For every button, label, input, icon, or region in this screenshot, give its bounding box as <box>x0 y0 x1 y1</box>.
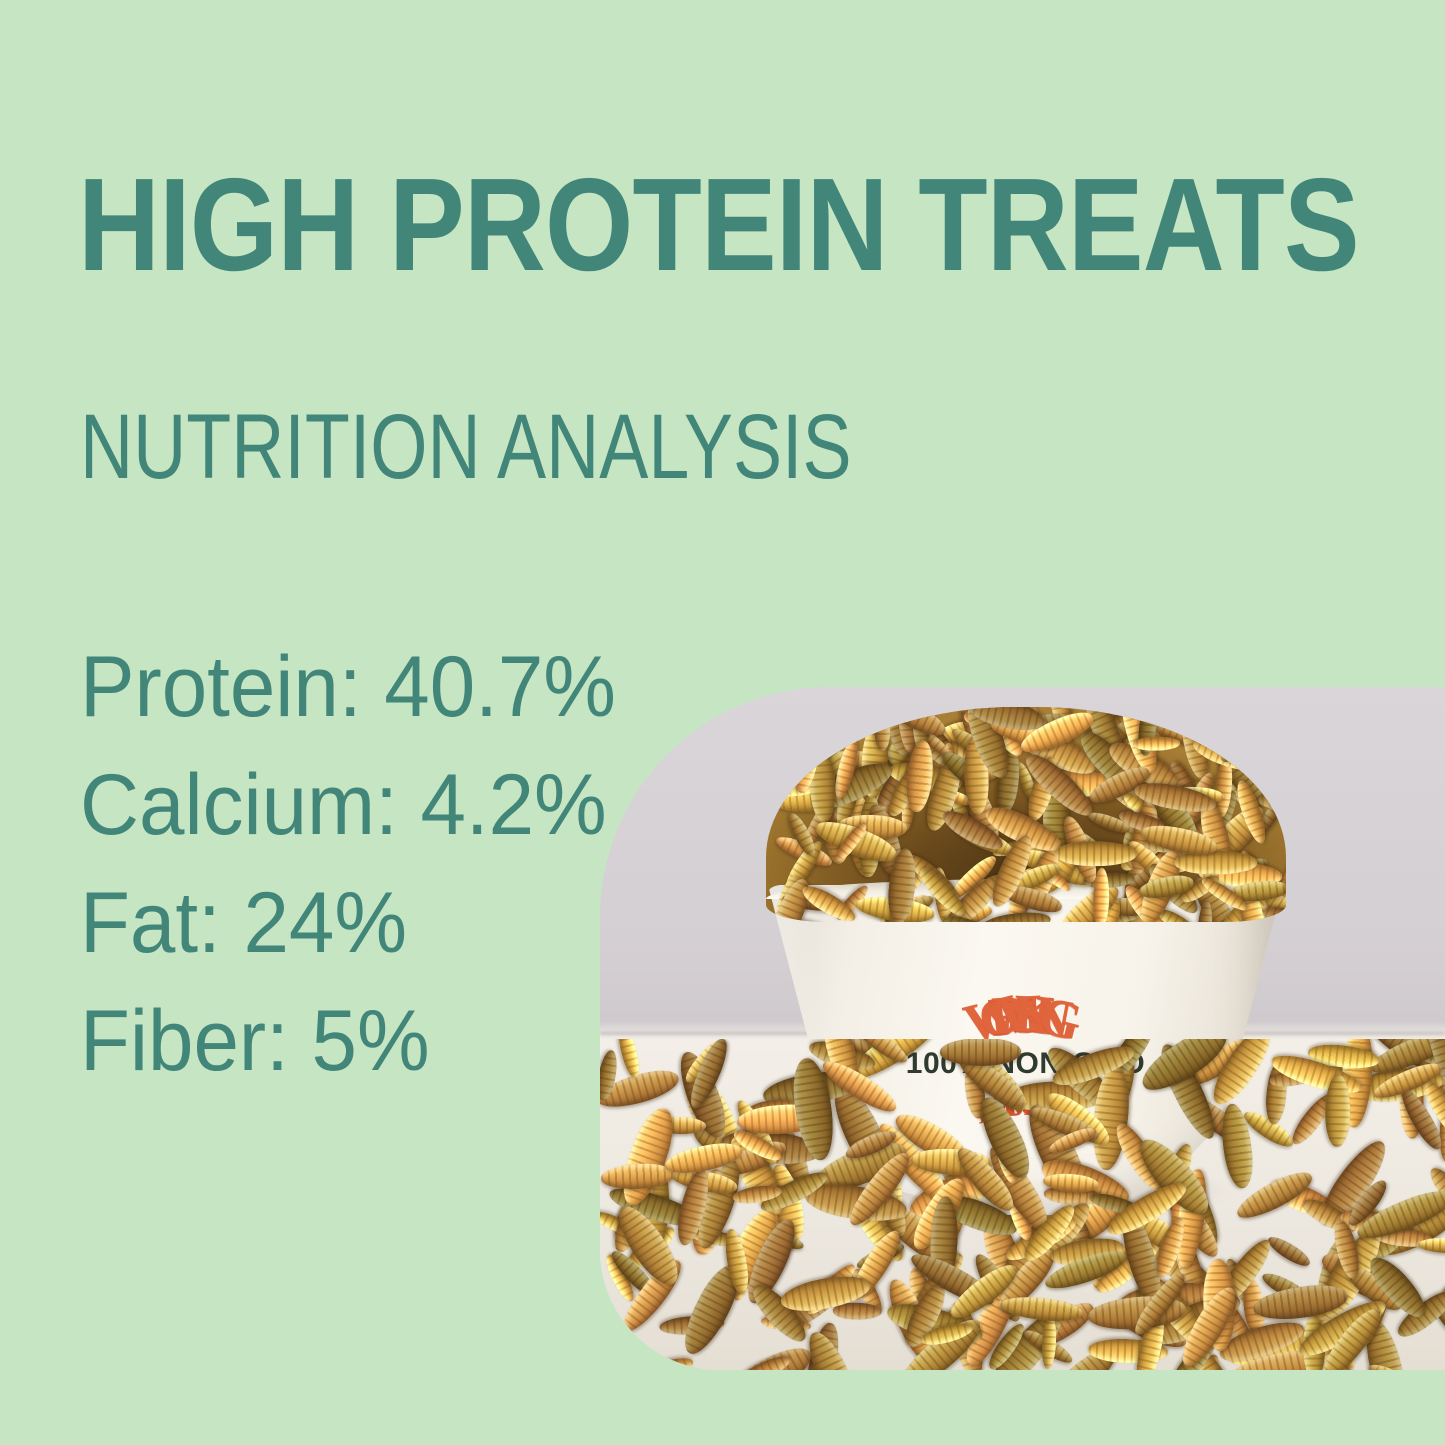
infographic-canvas: HIGH PROTEIN TREATS NUTRITION ANALYSIS P… <box>0 0 1445 1445</box>
product-photo: WORMSKING 100% NON-GMO PREMIUM QUALITY <box>600 687 1445 1370</box>
nutrition-item-fat: Fat: 24% <box>80 864 650 982</box>
scattered-larvae <box>600 1039 1445 1370</box>
larva <box>1174 851 1258 875</box>
larva <box>940 1039 1021 1066</box>
nutrition-item-fiber: Fiber: 5% <box>80 982 650 1100</box>
larva <box>1054 840 1137 866</box>
larva <box>874 707 891 752</box>
page-title: HIGH PROTEIN TREATS <box>78 166 1213 284</box>
section-subtitle: NUTRITION ANALYSIS <box>80 404 852 490</box>
nutrition-item-calcium: Calcium: 4.2% <box>80 746 650 864</box>
nutrition-list: Protein: 40.7% Calcium: 4.2% Fat: 24% Fi… <box>80 628 680 1100</box>
nutrition-item-protein: Protein: 40.7% <box>80 628 650 746</box>
